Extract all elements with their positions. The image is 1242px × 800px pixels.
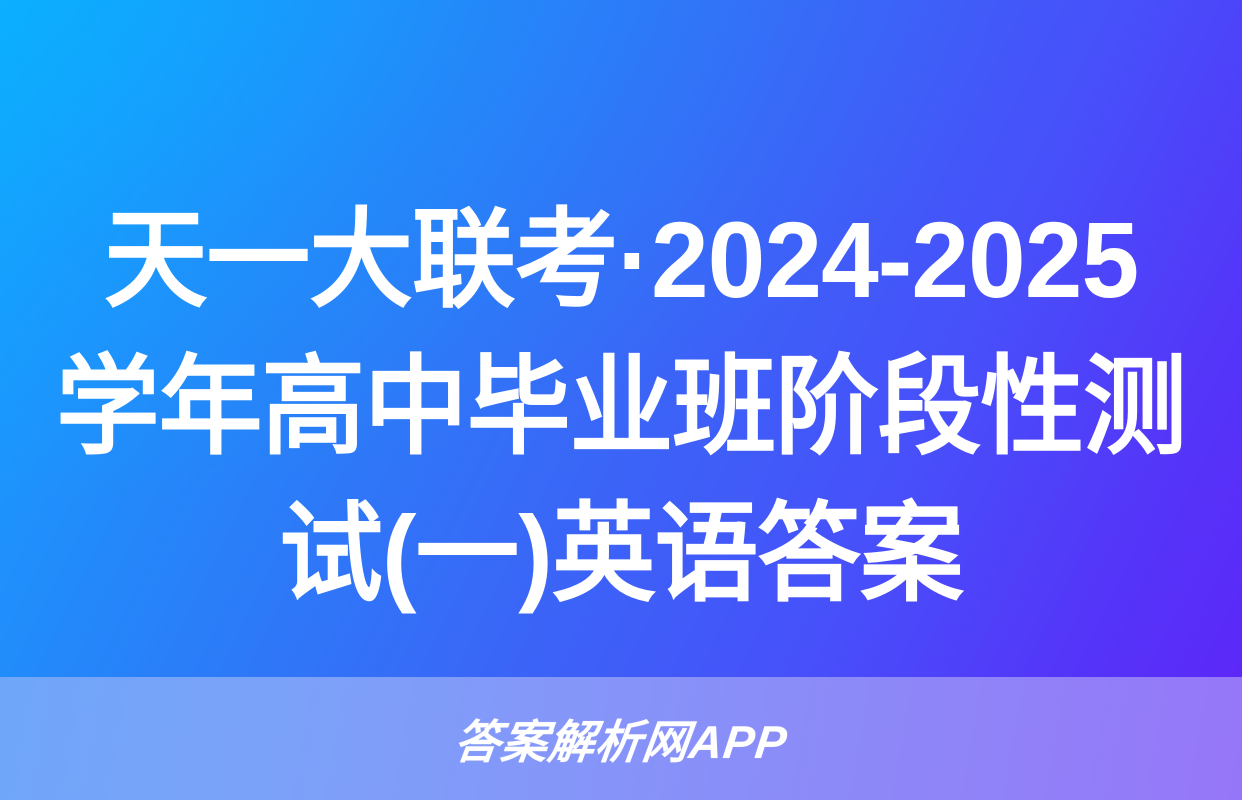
page-title: 天一大联考·2024-2025 学年高中毕业班阶段性测 试(一)英语答案 — [25, 186, 1217, 627]
poster-root: 天一大联考·2024-2025 学年高中毕业班阶段性测 试(一)英语答案 答案解… — [0, 0, 1242, 800]
footer-band: 答案解析网APP — [0, 677, 1242, 800]
app-watermark-label: 答案解析网APP — [451, 706, 792, 772]
title-line-1: 天一大联考·2024-2025 — [25, 186, 1217, 333]
title-line-2: 学年高中毕业班阶段性测 — [25, 333, 1217, 480]
hero-gradient-panel: 天一大联考·2024-2025 学年高中毕业班阶段性测 试(一)英语答案 — [0, 0, 1242, 677]
title-line-3: 试(一)英语答案 — [25, 480, 1217, 627]
